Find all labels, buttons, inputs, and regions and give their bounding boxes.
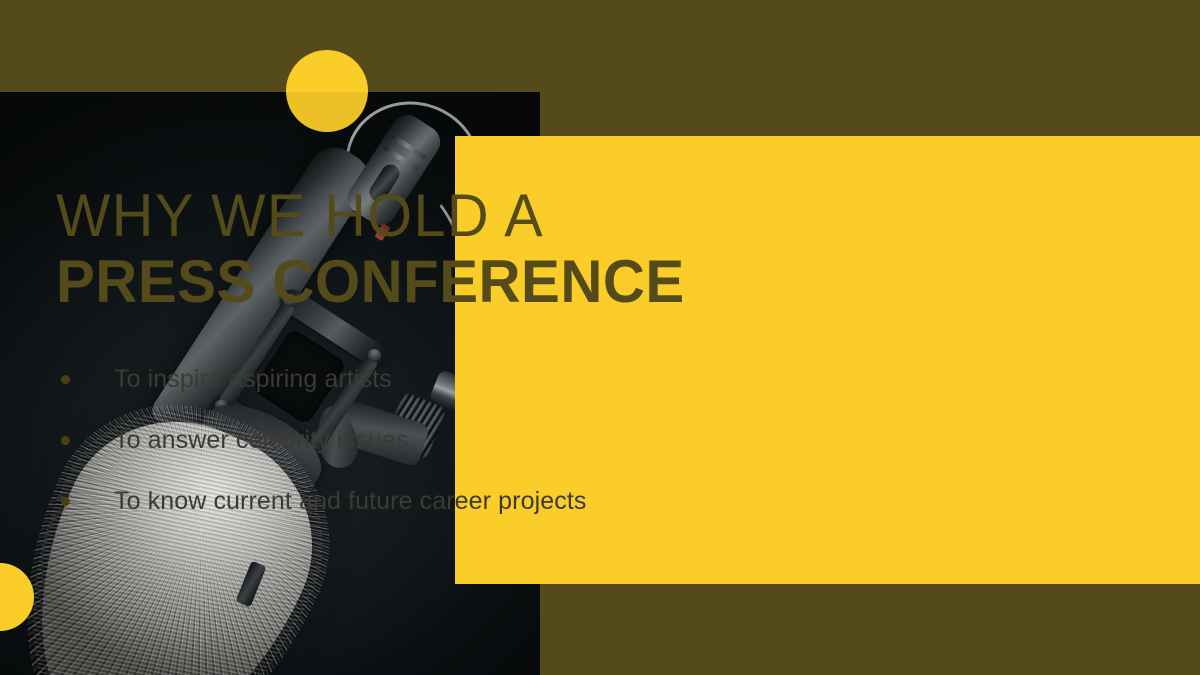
bullet-dot-icon — [61, 375, 70, 384]
bullet-text: To answer celebrity issues — [114, 425, 408, 456]
list-item: To know current and future career projec… — [56, 486, 726, 547]
bullet-dot-icon — [61, 497, 70, 506]
bullet-dot-icon — [61, 436, 70, 445]
slide-title-line-2: PRESS CONFERENCE — [56, 252, 685, 312]
slide-title-line-1: WHY WE HOLD A — [56, 186, 544, 246]
bullet-list: To inspire aspiring artists To answer ce… — [56, 364, 726, 547]
bullet-text: To know current and future career projec… — [114, 486, 587, 517]
presentation-slide: WHY WE HOLD A PRESS CONFERENCE To inspir… — [0, 0, 1200, 675]
list-item: To inspire aspiring artists — [56, 364, 726, 425]
list-item: To answer celebrity issues — [56, 425, 726, 486]
bullet-text: To inspire aspiring artists — [114, 364, 392, 395]
